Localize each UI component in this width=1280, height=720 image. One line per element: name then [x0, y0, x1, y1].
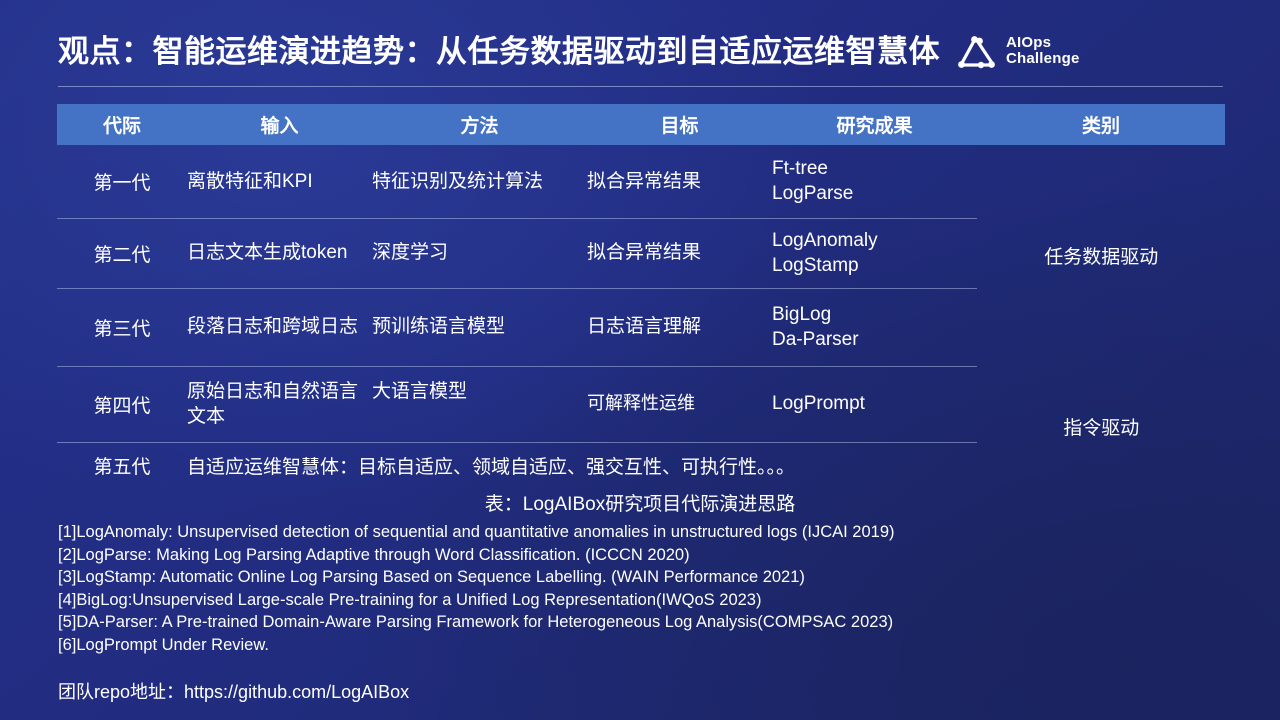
column-header-category: 类别: [977, 104, 1225, 145]
reference-list: [1]LogAnomaly: Unsupervised detection of…: [58, 521, 1188, 656]
column-header-generation: 代际: [57, 104, 187, 145]
cell-generation: 第四代: [57, 366, 187, 442]
cell-goal: 日志语言理解: [587, 288, 772, 366]
cell-input: 离散特征和KPI: [187, 145, 372, 218]
slide-canvas: 观点：智能运维演进趋势：从任务数据驱动到自适应运维智慧体 AIOps: [0, 0, 1280, 720]
column-header-method: 方法: [372, 104, 587, 145]
reference-item: [2]LogParse: Making Log Parsing Adaptive…: [58, 544, 1188, 567]
aiops-triangle-nodes-icon: [954, 30, 1000, 72]
logo-wordmark: AIOps Challenge: [1006, 35, 1079, 67]
page-title: 观点：智能运维演进趋势：从任务数据驱动到自适应运维智慧体: [58, 36, 940, 67]
title-bar: 观点：智能运维演进趋势：从任务数据驱动到自适应运维智慧体 AIOps: [0, 22, 1280, 80]
cell-generation: 第五代: [57, 442, 187, 488]
logo-line-1: AIOps: [1006, 35, 1079, 51]
table-caption: 表：LogAIBox研究项目代际演进思路: [0, 489, 1280, 516]
table-row: 第一代 离散特征和KPI 特征识别及统计算法 拟合异常结果 Ft-tree Lo…: [57, 145, 1225, 218]
cell-generation: 第三代: [57, 288, 187, 366]
table-row: 第四代 原始日志和自然语言文本 大语言模型 可解释性运维 LogPrompt 指…: [57, 366, 1225, 442]
cell-generation: 第一代: [57, 145, 187, 218]
reference-item: [6]LogPrompt Under Review.: [58, 634, 1188, 657]
cell-outcome: Ft-tree LogParse: [772, 145, 977, 218]
cell-method: 大语言模型: [372, 366, 587, 442]
cell-category-task-driven: 任务数据驱动: [977, 145, 1225, 366]
cell-generation: 第二代: [57, 218, 187, 288]
cell-method: 特征识别及统计算法: [372, 145, 587, 218]
cell-method: 预训练语言模型: [372, 288, 587, 366]
repo-address: 团队repo地址：https://github.com/LogAIBox: [58, 678, 409, 704]
generation-table-wrapper: 代际 输入 方法 目标 研究成果 类别 第一代 离散特征和KPI 特征识别及统计…: [57, 104, 1225, 488]
reference-item: [3]LogStamp: Automatic Online Log Parsin…: [58, 566, 1188, 589]
cell-method: 深度学习: [372, 218, 587, 288]
cell-outcome: LogPrompt: [772, 366, 977, 442]
cell-fifth-generation-description: 自适应运维智慧体：目标自适应、领域自适应、强交互性、可执行性。。。: [187, 442, 977, 488]
column-header-input: 输入: [187, 104, 372, 145]
logo-line-2: Challenge: [1006, 51, 1079, 67]
cell-input: 段落日志和跨域日志: [187, 288, 372, 366]
cell-category-instruction-driven: 指令驱动: [977, 366, 1225, 488]
cell-outcome: BigLog Da-Parser: [772, 288, 977, 366]
column-header-goal: 目标: [587, 104, 772, 145]
column-header-outcome: 研究成果: [772, 104, 977, 145]
cell-goal: 拟合异常结果: [587, 218, 772, 288]
aiops-challenge-logo: AIOps Challenge: [954, 30, 1079, 72]
cell-input: 日志文本生成token: [187, 218, 372, 288]
reference-item: [1]LogAnomaly: Unsupervised detection of…: [58, 521, 1188, 544]
table-header-row: 代际 输入 方法 目标 研究成果 类别: [57, 104, 1225, 145]
cell-input: 原始日志和自然语言文本: [187, 366, 372, 442]
title-divider: [58, 86, 1223, 87]
cell-goal: 拟合异常结果: [587, 145, 772, 218]
generation-table: 代际 输入 方法 目标 研究成果 类别 第一代 离散特征和KPI 特征识别及统计…: [57, 104, 1225, 488]
cell-goal: 可解释性运维: [587, 366, 772, 442]
reference-item: [4]BigLog:Unsupervised Large-scale Pre-t…: [58, 589, 1188, 612]
reference-item: [5]DA-Parser: A Pre-trained Domain-Aware…: [58, 611, 1188, 634]
cell-outcome: LogAnomaly LogStamp: [772, 218, 977, 288]
